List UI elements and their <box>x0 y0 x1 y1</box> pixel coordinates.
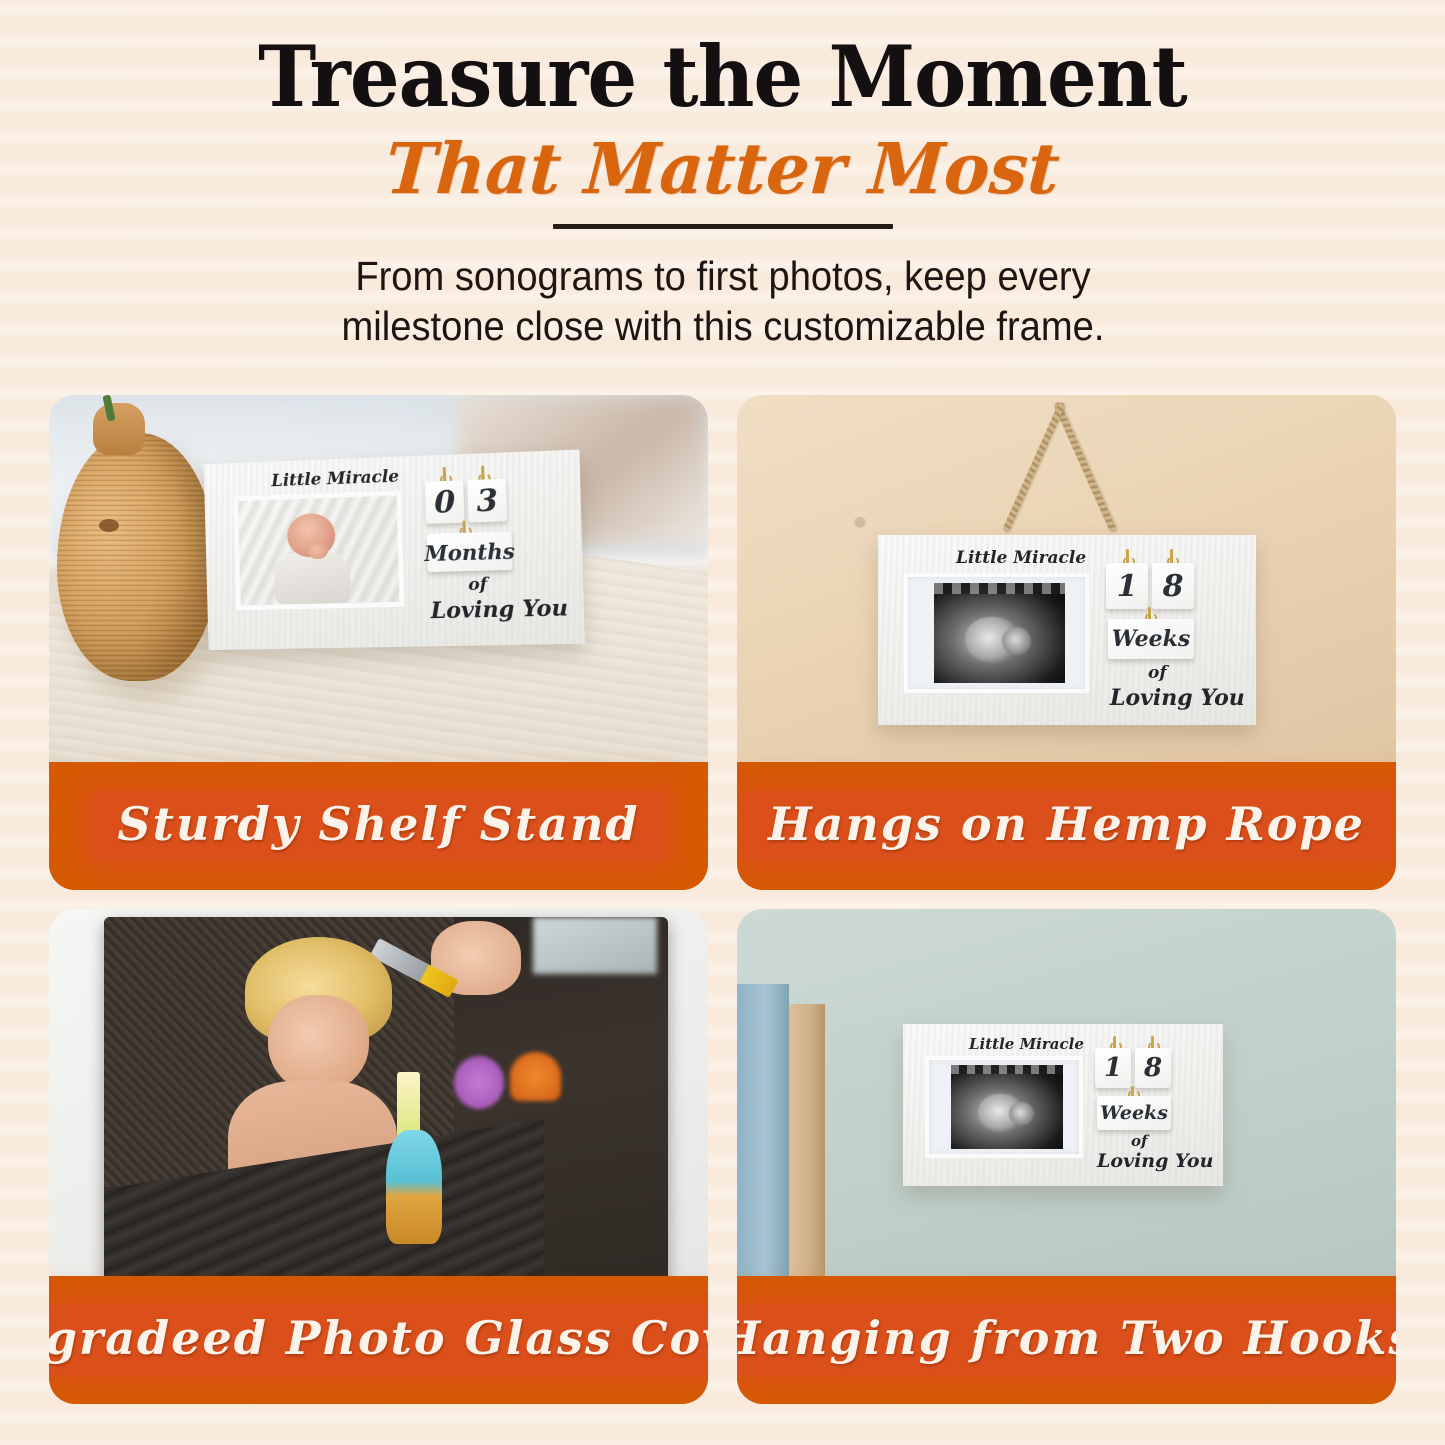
page-title: Treasure the Moment <box>51 34 1395 120</box>
caption-bar-2: Hangs on Hemp Rope <box>737 762 1396 890</box>
sonogram-photo-4 <box>951 1065 1063 1149</box>
feature-card-upgradeed-photo-glass-cover[interactable]: Upgradeed Photo Glass Cover <box>49 909 708 1404</box>
blurred-toy-purple <box>454 1056 505 1109</box>
baby-photo-1 <box>238 496 399 606</box>
photo-frame-product-2: Little Miracle 1 8 Weeks of Loving You <box>878 535 1256 725</box>
frame-tile-digit-3: 1 <box>1106 563 1148 609</box>
vase-neck <box>93 403 145 455</box>
glass-covered-photo-3 <box>104 917 668 1326</box>
blurred-container <box>533 917 657 974</box>
caption-bar-1: Sturdy Shelf Stand <box>49 762 708 890</box>
frame-title-1: Little Miracle <box>271 467 399 492</box>
birthday-cupcake <box>386 1130 442 1245</box>
caption-highlight-4: Hanging from Two Hooks <box>737 1305 1396 1375</box>
ceramic-vase <box>57 433 217 681</box>
caption-label-1: Sturdy Shelf Stand <box>117 797 639 851</box>
caption-highlight-1: Sturdy Shelf Stand <box>91 791 665 861</box>
frame-title-2: Little Miracle <box>956 548 1086 568</box>
caption-bar-3: Upgradeed Photo Glass Cover <box>49 1276 708 1404</box>
page-description: From sonograms to first photos, keep eve… <box>276 251 1169 351</box>
caption-label-4: Hanging from Two Hooks <box>737 1311 1396 1365</box>
frame-tile-digit-6: 8 <box>1135 1048 1171 1088</box>
sonogram-photo-2 <box>934 583 1065 683</box>
feature-card-hanging-from-two-hooks[interactable]: Little Miracle 1 8 Weeks of Loving You <box>737 909 1396 1404</box>
header: Treasure the Moment That Matter Most Fro… <box>0 0 1445 351</box>
feature-card-sturdy-shelf-stand[interactable]: Little Miracle 0 3 Months of Loving You <box>49 395 708 890</box>
caption-highlight-3: Upgradeed Photo Glass Cover <box>49 1305 708 1375</box>
frame-word-of-4: of <box>1131 1132 1147 1150</box>
hemp-rope-right <box>1002 402 1065 533</box>
frame-word-of-1: of <box>468 575 487 596</box>
wall-nail-icon <box>855 517 865 526</box>
number-candle-icon <box>397 1072 420 1137</box>
feature-card-hangs-on-hemp-rope[interactable]: Little Miracle 1 8 Weeks of Loving You <box>737 395 1396 890</box>
frame-photo-window-2 <box>904 573 1089 693</box>
photo-frame-product-4: Little Miracle 1 8 Weeks of Loving You <box>903 1024 1223 1186</box>
caption-bar-4: Hanging from Two Hooks <box>737 1276 1396 1404</box>
caption-highlight-2: Hangs on Hemp Rope <box>742 791 1391 861</box>
frame-photo-window-1 <box>233 491 404 611</box>
caption-label-2: Hangs on Hemp Rope <box>768 797 1365 851</box>
frame-word-loving-4: Loving You <box>1097 1150 1213 1172</box>
feature-grid: Little Miracle 0 3 Months of Loving You <box>49 395 1396 1404</box>
caption-label-3: Upgradeed Photo Glass Cover <box>49 1311 708 1365</box>
page-subtitle-script: That Matter Most <box>19 134 1425 204</box>
title-divider <box>553 224 893 229</box>
frame-title-4: Little Miracle <box>969 1035 1084 1053</box>
blurred-toy-orange <box>510 1052 561 1101</box>
description-line-2: milestone close with this customizable f… <box>341 303 1104 349</box>
frame-word-loving-1: Loving You <box>430 595 568 624</box>
frame-tile-digit-2: 3 <box>467 479 507 523</box>
frame-tile-digit-5: 1 <box>1095 1048 1131 1088</box>
frame-word-loving-2: Loving You <box>1110 685 1245 711</box>
hemp-rope-left <box>1053 402 1116 533</box>
frame-tile-unit-4: Weeks <box>1097 1096 1171 1130</box>
frame-tile-digit-1: 0 <box>425 480 464 524</box>
frame-tile-digit-4: 8 <box>1152 563 1194 609</box>
description-line-1: From sonograms to first photos, keep eve… <box>355 253 1090 299</box>
frame-word-of-2: of <box>1148 663 1167 683</box>
frame-tile-unit-2: Weeks <box>1108 619 1194 659</box>
toddler-face <box>268 995 370 1093</box>
frame-photo-window-4 <box>925 1056 1083 1158</box>
photo-frame-product-1: Little Miracle 0 3 Months of Loving You <box>204 450 585 651</box>
frame-tile-unit-1: Months <box>426 531 512 572</box>
